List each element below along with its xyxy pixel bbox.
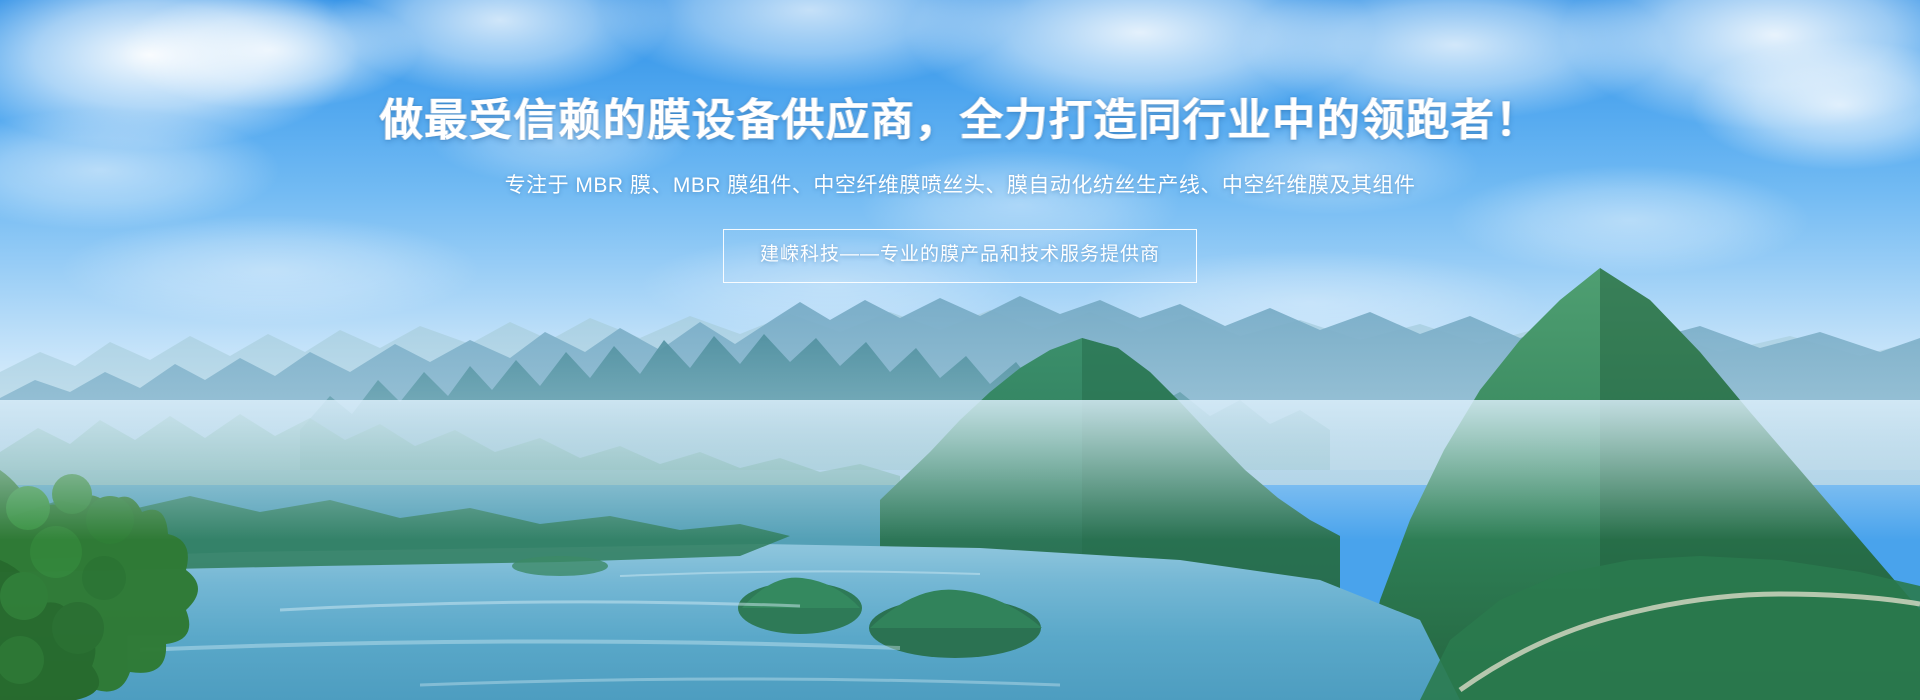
banner-subtitle: 专注于 MBR 膜、MBR 膜组件、中空纤维膜喷丝头、膜自动化纺丝生产线、中空纤… [505, 172, 1416, 199]
island-shape [512, 556, 608, 576]
hero-banner: 做最受信赖的膜设备供应商，全力打造同行业中的领跑者！ 专注于 MBR 膜、MBR… [0, 0, 1920, 700]
banner-tagline-box: 建嵘科技——专业的膜产品和技术服务提供商 [723, 229, 1197, 283]
banner-headline: 做最受信赖的膜设备供应商，全力打造同行业中的领跑者！ [380, 98, 1540, 144]
atmosphere-haze [0, 400, 1920, 540]
